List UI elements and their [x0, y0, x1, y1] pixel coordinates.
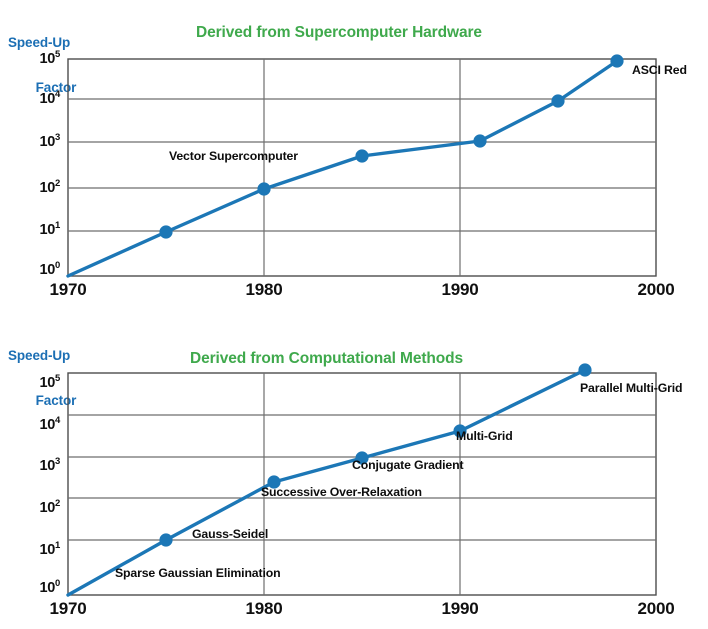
x-tick-label: 2000: [621, 599, 691, 619]
x-tick-label: 1990: [425, 280, 495, 300]
data-point-marker: [578, 363, 591, 376]
annotation-parallel-multi-grid: Parallel Multi-Grid: [580, 381, 682, 395]
plot-area-supercomputer-hardware: [0, 0, 708, 310]
annotation-vector-supercomputer: Vector Supercomputer: [169, 149, 298, 163]
x-tick-label: 1970: [33, 280, 103, 300]
annotation-successive-over-relaxation: Successive Over-Relaxation: [261, 485, 422, 499]
chart-panel-computational-methods: Speed-Up Factor Derived from Computation…: [0, 310, 708, 629]
annotation-conjugate-gradient: Conjugate Gradient: [352, 458, 463, 472]
annotation-sparse-gaussian-elimination: Sparse Gaussian Elimination: [115, 566, 280, 580]
x-tick-label: 1970: [33, 599, 103, 619]
annotation-asci-red: ASCI Red: [632, 63, 687, 77]
data-point-marker: [473, 134, 486, 147]
x-tick-label: 1980: [229, 599, 299, 619]
annotation-multi-grid: Multi-Grid: [456, 429, 513, 443]
x-tick-label: 1990: [425, 599, 495, 619]
data-point-marker: [551, 94, 564, 107]
x-tick-label: 2000: [621, 280, 691, 300]
annotation-gauss-seidel: Gauss-Seidel: [192, 527, 268, 541]
data-point-marker: [355, 149, 368, 162]
data-line-computational-methods: [68, 370, 585, 595]
x-tick-label: 1980: [229, 280, 299, 300]
data-point-marker: [257, 182, 270, 195]
plot-frame: [68, 59, 656, 276]
data-point-marker: [159, 225, 172, 238]
data-point-marker: [159, 533, 172, 546]
plot-frame: [68, 373, 656, 595]
data-point-marker: [610, 54, 623, 67]
data-line-supercomputer-hardware: [68, 61, 617, 276]
chart-panel-supercomputer-hardware: Speed-Up Factor Derived from Supercomput…: [0, 0, 708, 310]
